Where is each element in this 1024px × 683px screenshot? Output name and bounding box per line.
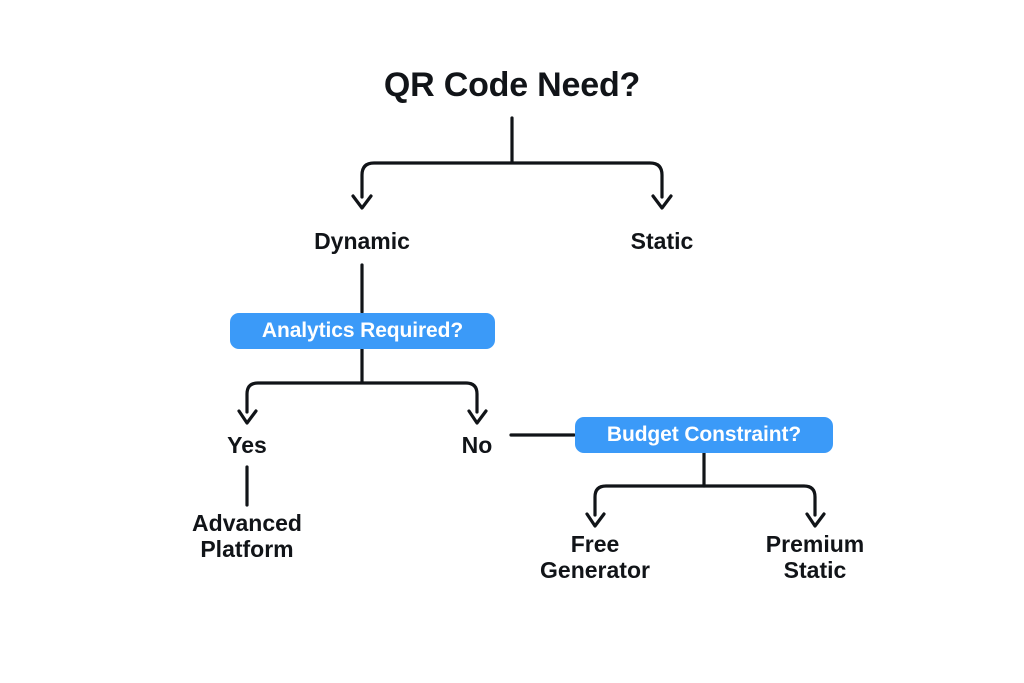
node-yes: Yes xyxy=(167,433,327,459)
edge-budget-fork xyxy=(595,486,815,515)
arrowhead-yes xyxy=(239,411,256,423)
arrowhead-dynamic xyxy=(353,196,371,208)
diagram-canvas: QR Code Need? Dynamic Static Analytics R… xyxy=(0,0,1024,683)
node-root-title: QR Code Need? xyxy=(262,66,762,104)
edge-root-fork xyxy=(362,163,662,197)
node-analytics-required-pill[interactable]: Analytics Required? xyxy=(230,313,495,349)
node-premium-static: Premium Static xyxy=(685,532,945,584)
node-no: No xyxy=(397,433,557,459)
node-static: Static xyxy=(562,229,762,255)
arrowhead-static xyxy=(653,196,671,208)
arrowhead-no xyxy=(469,411,486,423)
node-budget-constraint-pill[interactable]: Budget Constraint? xyxy=(575,417,833,453)
arrowhead-free xyxy=(587,514,604,526)
node-dynamic: Dynamic xyxy=(262,229,462,255)
node-advanced-platform: Advanced Platform xyxy=(117,511,377,563)
edge-analytics-fork xyxy=(247,383,477,412)
arrowhead-premium xyxy=(807,514,824,526)
